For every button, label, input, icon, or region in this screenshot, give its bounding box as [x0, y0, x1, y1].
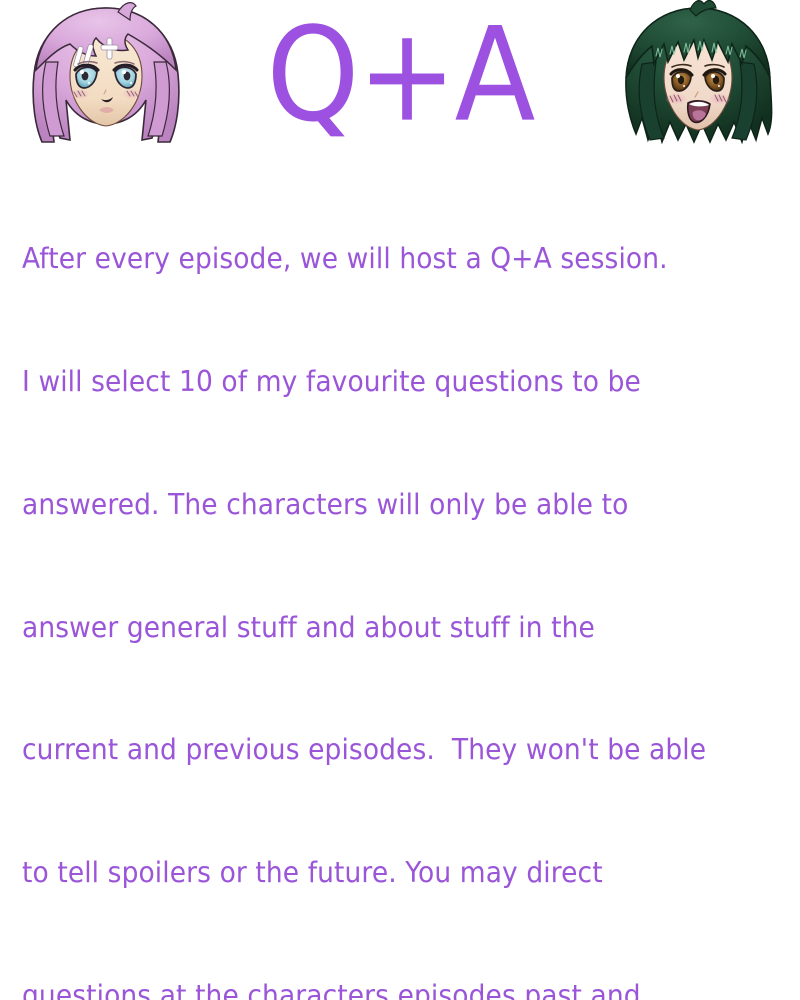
girl-right-blush — [122, 89, 142, 100]
paragraph-line: After every episode, we will host a Q+A … — [22, 240, 792, 281]
page-title: Q+A — [240, 0, 560, 158]
page-title-text: Q+A — [266, 11, 533, 141]
announcement-paragraph: After every episode, we will host a Q+A … — [22, 158, 792, 1000]
paragraph-line: to tell spoilers or the future. You may … — [22, 853, 792, 894]
paragraph-line: current and previous episodes. They won'… — [22, 731, 792, 772]
paragraph-line: I will select 10 of my favourite questio… — [22, 363, 792, 404]
paragraph-line: answer general stuff and about stuff in … — [22, 608, 792, 649]
boy-right-blush — [709, 93, 731, 105]
anime-boy-green-hair-portrait — [598, 0, 798, 158]
paragraph-line: answered. The characters will only be ab… — [22, 485, 792, 526]
banner-header: Q+A — [0, 0, 800, 158]
anime-girl-lilac-hair-portrait — [6, 0, 206, 158]
paragraph-line: questions at the characters episodes pas… — [22, 976, 792, 1000]
qa-announcement-banner: Q+A — [0, 0, 800, 500]
